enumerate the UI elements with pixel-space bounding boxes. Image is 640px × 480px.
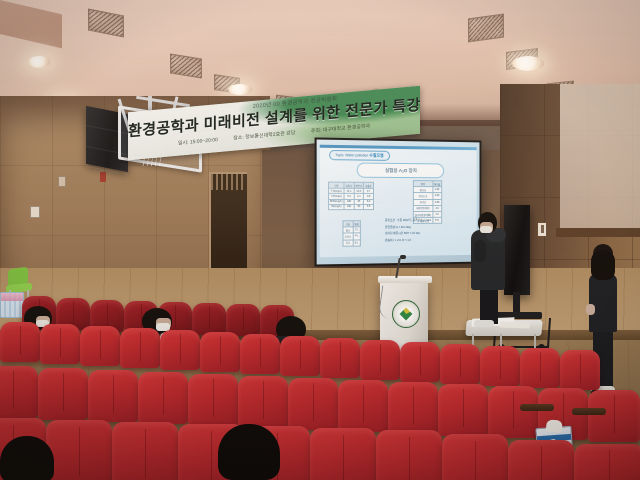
seat[interactable]: [280, 336, 320, 376]
seat[interactable]: [240, 334, 280, 374]
slide-bullet: 운전조건 : 수온 20±2℃, 용존산소 2 mg/L: [385, 218, 471, 222]
wall-right-upper: [560, 84, 640, 234]
slide-title: 실험용 A₂O 장치: [357, 163, 444, 179]
seat[interactable]: [388, 382, 438, 434]
podium-top: [378, 276, 432, 283]
seat[interactable]: [360, 340, 400, 380]
presenter-at-podium: [468, 212, 508, 332]
seat[interactable]: [508, 440, 574, 480]
td: 8 L: [353, 239, 361, 245]
seat[interactable]: [40, 324, 80, 364]
screen-surface: Topic. Water pollution 수질오염 실험용 A₂O 장치 구…: [317, 140, 480, 265]
seat[interactable]: [560, 350, 600, 390]
td: 160: [344, 204, 354, 209]
seat[interactable]: [376, 430, 442, 480]
presenter-legs: [480, 286, 498, 324]
microphone-icon: [400, 255, 406, 259]
seat[interactable]: [192, 303, 226, 335]
seat[interactable]: [0, 322, 40, 362]
seat[interactable]: [338, 380, 388, 432]
wall-trim: [556, 228, 640, 237]
seat[interactable]: [188, 374, 238, 426]
seat[interactable]: [288, 378, 338, 430]
seat[interactable]: [588, 390, 640, 442]
attendee-jacket: [589, 274, 617, 332]
audience-head-foreground: [0, 436, 54, 480]
slide-bullet: 반송비 r = 2.0, R = 1.0: [385, 237, 471, 242]
table-row: 호기 8 L: [343, 239, 360, 245]
seat[interactable]: [310, 428, 376, 480]
table-row: SS(mg/L) 160 38 6.5: [329, 204, 374, 209]
seat-armrest: [520, 404, 554, 411]
ceiling-downlight: [512, 56, 544, 71]
tv-stand-column: [513, 292, 520, 314]
presenter-arm: [474, 240, 486, 262]
presentation-slide: Topic. Water pollution 수질오염 실험용 A₂O 장치 구…: [320, 145, 477, 258]
ceiling-downlight: [28, 56, 50, 68]
seat[interactable]: [120, 328, 160, 368]
face-mask: [480, 226, 492, 233]
slide-bullet-list: 운전조건 : 수온 20±2℃, 용존산소 2 mg/L 유입유량 Q = 20…: [385, 218, 471, 245]
light-switch[interactable]: [537, 222, 547, 237]
tissue-sheet: [546, 419, 563, 432]
seat[interactable]: [112, 422, 178, 480]
seat[interactable]: [80, 326, 120, 366]
water-bottle-box[interactable]: [0, 292, 24, 318]
seat[interactable]: [488, 386, 538, 438]
slide-bullet: 슬러지 체류시간 SRT = 10 day: [385, 231, 471, 236]
presenter-shoe: [474, 320, 494, 327]
seat[interactable]: [442, 434, 508, 480]
seat[interactable]: [440, 344, 480, 384]
door-grille: [211, 174, 243, 190]
auditorium-photo: 2020년 00 환경공학과 전공박람회 환경공학과 미래비전 설계를 위한 전…: [0, 0, 640, 480]
td: SS(mg/L): [329, 204, 345, 209]
university-emblem-icon: [392, 300, 420, 328]
seat[interactable]: [38, 368, 88, 420]
seat[interactable]: [226, 304, 260, 336]
td: 6.5: [364, 204, 374, 209]
seat[interactable]: [46, 420, 112, 480]
seat[interactable]: [320, 338, 360, 378]
seat-armrest: [572, 408, 606, 415]
projection-screen: Topic. Water pollution 수질오염 실험용 A₂O 장치 구…: [315, 137, 482, 266]
seat[interactable]: [480, 346, 520, 386]
seat[interactable]: [574, 444, 640, 480]
seat[interactable]: [400, 342, 440, 382]
seat[interactable]: [200, 332, 240, 372]
attendee-hair: [591, 250, 615, 280]
slide-bullet: 유입유량 Q = 20 L/day: [385, 224, 471, 229]
td: 호기: [343, 240, 353, 246]
fire-alarm-icon: [100, 172, 106, 182]
seat[interactable]: [238, 376, 288, 428]
audience-head-foreground: [218, 424, 280, 480]
seat[interactable]: [160, 330, 200, 370]
td: 38: [354, 204, 364, 209]
seat[interactable]: [520, 348, 560, 388]
wall-plate: [58, 176, 66, 187]
slide-topic-value: 수질오염: [369, 153, 383, 158]
slide-topic-prefix: Topic. Water pollution: [335, 153, 368, 157]
slide-table-left: 구분 유입수 반응조 유출수 T-N(mg/L) 42.1 18.3 9.7: [328, 182, 374, 211]
attendee-hand: [586, 304, 595, 315]
slide-topic-tag: Topic. Water pollution 수질오염: [329, 150, 390, 161]
ceiling-vent: [468, 13, 504, 42]
ceiling-downlight: [228, 84, 252, 95]
slide-table-small: 구분 용량 혐기 2 L 무산소 4 L 호기: [342, 220, 360, 246]
seat[interactable]: [0, 366, 38, 418]
seat[interactable]: [88, 370, 138, 422]
seat[interactable]: [138, 372, 188, 424]
seat[interactable]: [438, 384, 488, 436]
wall-outlet[interactable]: [30, 206, 40, 218]
